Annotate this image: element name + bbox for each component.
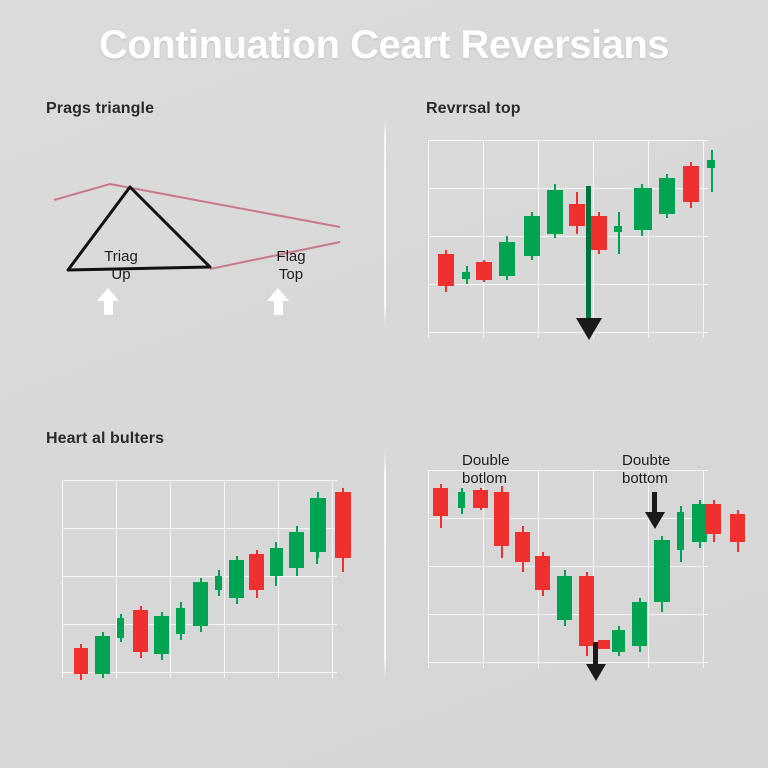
candle-body (614, 226, 622, 232)
candle-body (524, 216, 540, 256)
gridline-h-3 (428, 284, 708, 285)
candle-body (730, 514, 745, 542)
gridline-v-4 (648, 140, 649, 338)
up-arrow-triag-head (97, 288, 119, 301)
candle-body (591, 216, 607, 250)
gridline-v-3 (224, 480, 225, 678)
candle-body (270, 548, 283, 576)
gridline-v-4 (648, 470, 649, 668)
candle-body (476, 262, 492, 280)
candle-body (677, 512, 684, 550)
gridline-v-0 (428, 140, 429, 338)
page-title: Continuation Ceart Reversians (0, 22, 768, 68)
gridline-h-0 (428, 140, 708, 141)
candle-body (154, 616, 169, 654)
gridline-h-4 (428, 332, 708, 333)
reversal-down-arrow-head (576, 318, 602, 340)
candle-body (634, 188, 652, 230)
candle-body (547, 190, 563, 234)
candle-body (707, 160, 715, 168)
candle-body (249, 554, 264, 590)
label-triag-up-line1: Triag (86, 248, 156, 266)
panel-title-bullish-trend: Heart al bulters (46, 430, 164, 448)
double-bottom-chart-right (705, 470, 755, 668)
gridline-v-4 (278, 480, 279, 678)
candle-body (632, 602, 647, 646)
panel-reversal-top: Revrrsal top (420, 100, 740, 350)
candle-body (310, 498, 326, 552)
candle-body (654, 540, 670, 602)
candle-body (499, 242, 515, 276)
label-double-bottom-right-line2: bottom (622, 470, 670, 488)
double-bottom-arrow-right-head (645, 512, 665, 529)
gridline-v-5 (703, 140, 704, 338)
gridline-h-1 (428, 518, 708, 519)
up-arrow-flag-shaft (274, 300, 283, 315)
bullish-trend-chart-right (295, 480, 365, 678)
candle-body (458, 492, 465, 508)
gridline-v-1 (116, 480, 117, 678)
candle-body (95, 636, 110, 674)
reversal-top-chart (428, 140, 708, 338)
candle-body (462, 272, 470, 279)
gridline-v-0 (62, 480, 63, 678)
gridline-h-2 (428, 236, 708, 237)
gridline-v-1 (483, 140, 484, 338)
double-bottom-arrow-center-shaft (593, 642, 598, 666)
candle-body (133, 610, 148, 652)
label-triag-up-line2: Up (86, 266, 156, 284)
reversal-down-arrow-shaft (586, 186, 591, 324)
double-bottom-arrow-center-head (586, 664, 606, 681)
candle-body (438, 254, 454, 286)
candle-body (117, 618, 124, 638)
candle-body (598, 640, 610, 649)
gridline-h-4 (428, 662, 708, 663)
double-bottom-chart (428, 470, 708, 668)
panel-title-prags-triangle: Prags triangle (46, 100, 154, 118)
candle-body (176, 608, 185, 634)
reversal-top-chart-right (706, 140, 746, 338)
candle-body (569, 204, 585, 226)
double-bottom-arrow-right-shaft (652, 492, 657, 514)
label-double-bottom-left-line2: botlom (462, 470, 510, 488)
label-flag-top-line1: Flag (256, 248, 326, 266)
panel-double-bottom: Double botlom Doubte bottom (420, 430, 740, 695)
label-double-bottom-right: Doubte bottom (622, 452, 670, 489)
label-double-bottom-left: Double botlom (462, 452, 510, 489)
candle-body (659, 178, 675, 214)
infographic-canvas: Continuation Ceart Reversians Prags tria… (0, 0, 768, 768)
gridline-v-5 (703, 470, 704, 668)
label-flag-top: Flag Top (256, 248, 326, 285)
panel-bullish-trend: Heart al bulters (40, 430, 360, 695)
candle-body (433, 488, 448, 516)
candle-body (215, 576, 222, 590)
label-double-bottom-right-line1: Doubte (622, 452, 670, 470)
gridline-v-0 (428, 470, 429, 668)
candle-body (683, 166, 699, 202)
candle-body (579, 576, 594, 646)
candle-wick (618, 212, 620, 254)
candle-body (612, 630, 625, 652)
gridline-v-2 (170, 480, 171, 678)
candle-body (706, 504, 721, 534)
candle-body (494, 492, 509, 546)
candle-body (535, 556, 550, 590)
candle-body (557, 576, 572, 620)
candle-body (473, 490, 488, 508)
panel-divider-top (384, 118, 386, 326)
candle-body (193, 582, 208, 626)
candle-body (229, 560, 244, 598)
up-arrow-flag-head (267, 288, 289, 301)
panel-prags-triangle: Prags triangle Triag Up Flag Top (40, 100, 360, 330)
label-flag-top-line2: Top (256, 266, 326, 284)
candle-body (335, 492, 351, 558)
label-triag-up: Triag Up (86, 248, 156, 285)
up-arrow-triag-shaft (104, 300, 113, 315)
candle-body (74, 648, 88, 674)
panel-title-reversal-top: Revrrsal top (426, 100, 521, 118)
candle-body (515, 532, 530, 562)
candle-wick (711, 150, 713, 192)
upper-trendline (54, 184, 340, 227)
panel-divider-bottom (384, 450, 386, 680)
label-double-bottom-left-line1: Double (462, 452, 510, 470)
